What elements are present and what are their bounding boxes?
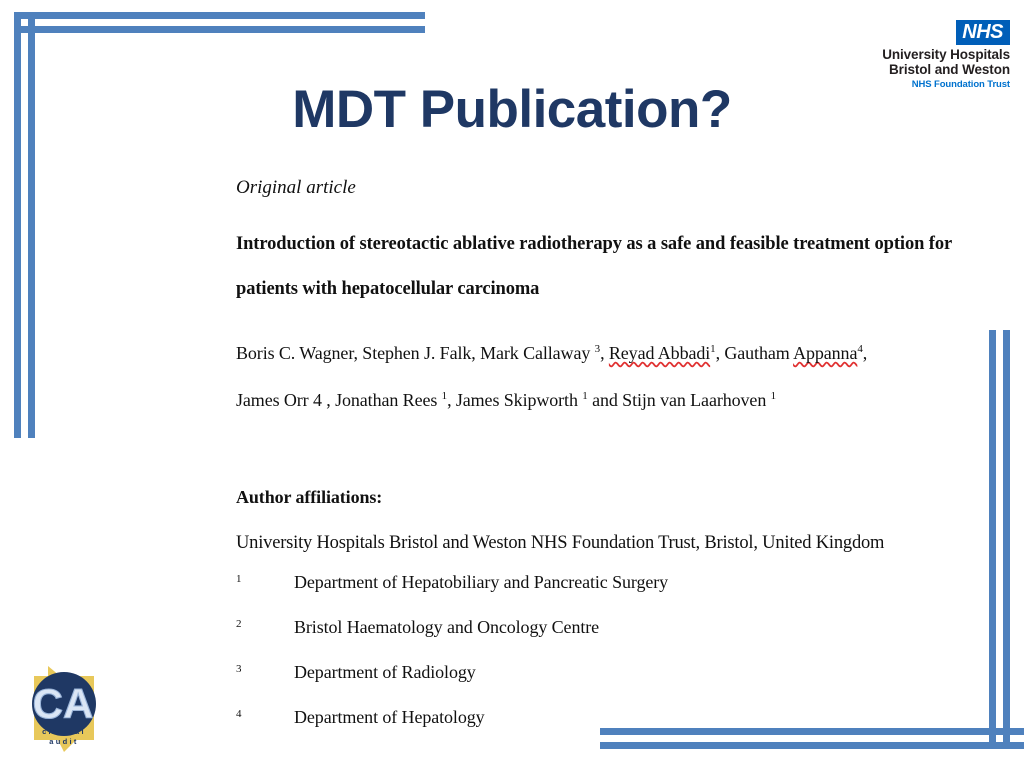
author-segment-misspelled: Reyad Abbadi [609, 343, 710, 363]
affiliation-label: Department of Radiology [294, 662, 476, 683]
author-segment: , Gautham [716, 343, 794, 363]
article-author-line-1: Boris C. Wagner, Stephen J. Falk, Mark C… [236, 330, 952, 377]
border-bar-right-inner [989, 330, 996, 749]
page-title: MDT Publication? [160, 80, 864, 140]
article-author-line-2: James Orr 4 , Jonathan Rees 1, James Ski… [236, 377, 952, 424]
border-bar-top-inner [14, 26, 425, 33]
list-item: 1 Department of Hepatobiliary and Pancre… [236, 572, 952, 617]
author-segment: , [863, 343, 867, 363]
affiliation-number: 3 [236, 663, 294, 675]
border-bar-right-outer [1003, 330, 1010, 749]
affiliation-label: Bristol Haematology and Oncology Centre [294, 617, 599, 638]
affiliations-trust-line: University Hospitals Bristol and Weston … [236, 532, 952, 554]
list-item: 2 Bristol Haematology and Oncology Centr… [236, 617, 952, 662]
nhs-wordmark-icon: NHS [956, 20, 1010, 45]
nhs-logo: NHS University Hospitals Bristol and Wes… [858, 20, 1010, 91]
svg-text:CA: CA [33, 680, 94, 727]
nhs-foundation-trust-label: NHS Foundation Trust [858, 78, 1010, 91]
article-kicker: Original article [236, 176, 952, 200]
list-item: 3 Department of Radiology [236, 662, 952, 707]
border-bar-left-outer [14, 12, 21, 438]
svg-text:audit: audit [49, 737, 78, 746]
article-screenshot: Original article Introduction of stereot… [236, 176, 952, 752]
svg-text:clinical: clinical [42, 727, 86, 736]
list-item: 4 Department of Hepatology [236, 707, 952, 752]
border-bar-left-inner [28, 12, 35, 438]
affiliation-label: Department of Hepatobiliary and Pancreat… [294, 572, 668, 593]
clinical-audit-logo-icon: CA clinical audit [18, 658, 110, 754]
nhs-trust-name-line1: University Hospitals [858, 48, 1010, 63]
affiliations-heading: Author affiliations: [236, 486, 952, 508]
author-segment-misspelled: Appanna [793, 343, 857, 363]
border-bar-top-outer [14, 12, 425, 19]
affiliation-number: 4 [236, 708, 294, 720]
article-heading: Introduction of stereotactic ablative ra… [236, 222, 952, 312]
clinical-audit-logo: CA clinical audit [18, 658, 110, 754]
affiliations-list: 1 Department of Hepatobiliary and Pancre… [236, 572, 952, 752]
author-segment: Boris C. Wagner, Stephen J. Falk, Mark C… [236, 343, 609, 363]
affiliation-number: 1 [236, 573, 294, 585]
author-segment: James Orr 4 , Jonathan Rees 1, James Ski… [236, 390, 776, 410]
slide-canvas: NHS University Hospitals Bristol and Wes… [0, 0, 1024, 768]
nhs-trust-name-line2: Bristol and Weston [858, 63, 1010, 78]
affiliation-number: 2 [236, 618, 294, 630]
affiliation-label: Department of Hepatology [294, 707, 485, 728]
